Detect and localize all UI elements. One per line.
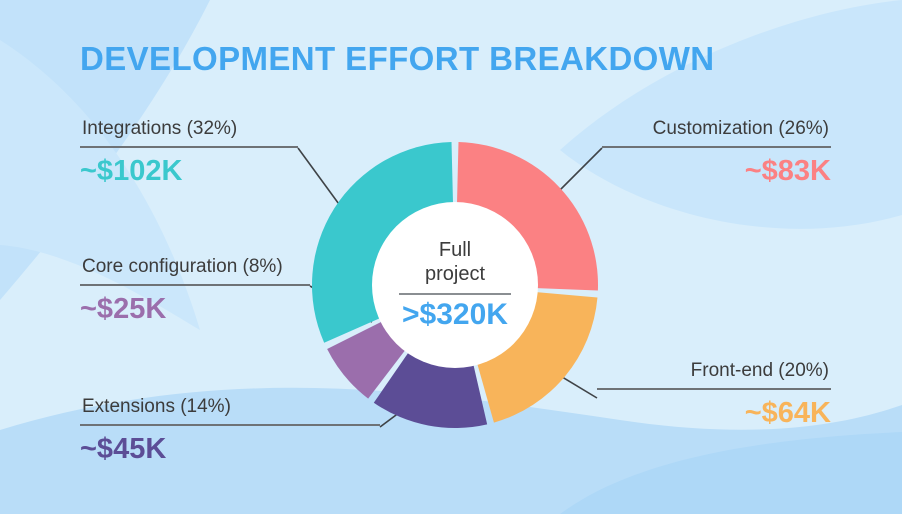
callout-integrations-category: Integrations (32%) (80, 116, 298, 146)
donut-hole (372, 202, 538, 368)
donut-chart-svg (310, 140, 600, 430)
callout-customization-amount: ~$83K (602, 148, 831, 191)
callout-integrations-amount: ~$102K (80, 148, 298, 191)
infographic-canvas: DEVELOPMENT EFFORT BREAKDOWN Integration… (0, 0, 902, 514)
callout-core-configuration-category: Core configuration (8%) (80, 254, 310, 284)
donut-chart: Full project >$320K (310, 140, 600, 430)
callout-customization-category: Customization (26%) (602, 116, 831, 146)
callout-frontend-category: Front-end (20%) (597, 358, 831, 388)
callout-extensions-amount: ~$45K (80, 426, 380, 469)
callout-core-configuration[interactable]: Core configuration (8%) ~$25K (80, 254, 310, 329)
callout-customization[interactable]: Customization (26%) ~$83K (602, 116, 831, 191)
page-title: DEVELOPMENT EFFORT BREAKDOWN (80, 40, 715, 78)
callout-frontend[interactable]: Front-end (20%) ~$64K (597, 358, 831, 433)
callout-frontend-amount: ~$64K (597, 390, 831, 433)
callout-core-configuration-amount: ~$25K (80, 286, 310, 329)
callout-integrations[interactable]: Integrations (32%) ~$102K (80, 116, 298, 191)
